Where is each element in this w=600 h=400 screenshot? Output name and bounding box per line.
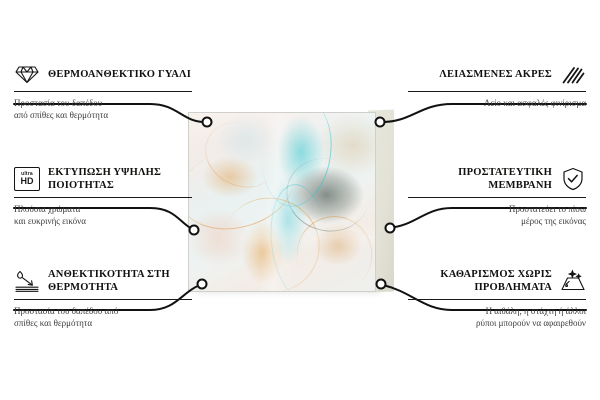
desc-line: από σπίθες και θερμότητα: [14, 110, 192, 122]
feature-title: ΕΚΤΥΠΩΣΗ ΥΨΗΛΗΣ ΠΟΙΟΤΗΤΑΣ: [48, 166, 192, 192]
feature-title: ΘΕΡΜΟΑΝΘΕΚΤΙΚΟ ΓΥΑΛΙ: [48, 68, 191, 81]
divider: [14, 91, 192, 92]
feature-heat-durability: ΑΝΘΕΚΤΙΚΟΤΗΤΑ ΣΤΗ ΘΕΡΜΟΤΗΤΑ Προστασία το…: [14, 268, 192, 329]
feature-description: Προστασία του δαπέδου από σπίθες και θερ…: [14, 98, 192, 121]
desc-line: Προστατεύει το πίσω: [408, 204, 586, 216]
desc-line: και ευκρινής εικόνα: [14, 216, 192, 228]
feature-title: ΑΝΘΕΚΤΙΚΟΤΗΤΑ ΣΤΗ ΘΕΡΜΟΤΗΤΑ: [48, 268, 192, 294]
ultra-hd-icon: ultra HD: [14, 167, 40, 191]
desc-line: Λείο και ασφαλές φινίρισμα: [408, 98, 586, 110]
divider: [14, 197, 192, 198]
diamond-icon: [14, 62, 40, 86]
feature-title: ΠΡΟΣΤΑΤΕΥΤΙΚΗ ΜΕΜΒΡΑΝΗ: [408, 166, 552, 192]
divider: [408, 197, 586, 198]
divider: [14, 299, 192, 300]
product-image: [188, 112, 376, 292]
feature-description: Προστασία του δαπέδου από σπίθες και θερ…: [14, 306, 192, 329]
marble-pattern: [188, 112, 376, 292]
feature-protective-membrane: ΠΡΟΣΤΑΤΕΥΤΙΚΗ ΜΕΜΒΡΑΝΗ Προστατεύει το πί…: [408, 166, 586, 227]
feature-title: ΚΑΘΑΡΙΣΜΟΣ ΧΩΡΙΣ ΠΡΟΒΛΗΜΑΤΑ: [408, 268, 552, 294]
desc-line: σπίθες και θερμότητα: [14, 318, 192, 330]
easy-clean-sparkle-icon: [560, 269, 586, 293]
shield-check-icon: [560, 167, 586, 191]
desc-line: Πλούσια χρώματα: [14, 204, 192, 216]
desc-line: Προστασία του δαπέδου: [14, 98, 192, 110]
feature-high-quality-print: ultra HD ΕΚΤΥΠΩΣΗ ΥΨΗΛΗΣ ΠΟΙΟΤΗΤΑΣ Πλούσ…: [14, 166, 192, 227]
feature-description: Λείο και ασφαλές φινίρισμα: [408, 98, 586, 110]
ultra-hd-bottom-label: HD: [21, 177, 34, 186]
feature-title: ΛΕΙΑΣΜΕΝΕΣ ΑΚΡΕΣ: [439, 68, 552, 81]
feature-heat-resistant-glass: ΘΕΡΜΟΑΝΘΕΚΤΙΚΟ ΓΥΑΛΙ Προστασία του δαπέδ…: [14, 62, 192, 121]
polished-edges-icon: [560, 62, 586, 86]
desc-line: ρύποι μπορούν να αφαιρεθούν: [408, 318, 586, 330]
desc-line: Προστασία του δαπέδου από: [14, 306, 192, 318]
feature-description: Πλούσια χρώματα και ευκρινής εικόνα: [14, 204, 192, 227]
desc-line: Η αιθάλη, η στάχτη ή άλλοι: [408, 306, 586, 318]
feature-description: Προστατεύει το πίσω μέρος της εικόνας: [408, 204, 586, 227]
heat-resistance-icon: [14, 269, 40, 293]
feature-easy-cleaning: ΚΑΘΑΡΙΣΜΟΣ ΧΩΡΙΣ ΠΡΟΒΛΗΜΑΤΑ Η αιθάλη, η …: [408, 268, 586, 329]
feature-polished-edges: ΛΕΙΑΣΜΕΝΕΣ ΑΚΡΕΣ Λείο και ασφαλές φινίρι…: [408, 62, 586, 110]
infographic-canvas: ΘΕΡΜΟΑΝΘΕΚΤΙΚΟ ΓΥΑΛΙ Προστασία του δαπέδ…: [0, 0, 600, 400]
divider: [408, 299, 586, 300]
feature-description: Η αιθάλη, η στάχτη ή άλλοι ρύποι μπορούν…: [408, 306, 586, 329]
divider: [408, 91, 586, 92]
desc-line: μέρος της εικόνας: [408, 216, 586, 228]
